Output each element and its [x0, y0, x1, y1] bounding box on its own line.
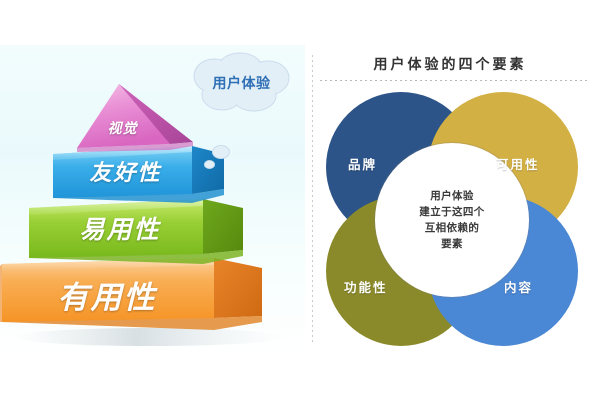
- venn-label-usability: 可用性: [496, 154, 540, 173]
- venn-label-function: 功能性: [344, 277, 388, 296]
- panel-divider: [312, 55, 313, 343]
- venn-label-content: 内容: [504, 277, 533, 296]
- venn-center-text: 用户体验 建立于这四个 互相依赖的 要素: [419, 188, 484, 252]
- venn-label-brand: 品牌: [348, 154, 377, 173]
- venn-panel: 用户体验的四个要素 用户体验 建立于这四个 互相依赖的 要素 品牌 可用性 功能…: [320, 40, 600, 370]
- venn-title: 用户体验的四个要素: [320, 54, 580, 74]
- venn-center-line-3: 互相依赖的: [419, 220, 484, 236]
- diagram-canvas: 有用性: [0, 0, 600, 400]
- venn-center-line-1: 用户体验: [419, 188, 484, 204]
- venn-center-line-4: 要素: [419, 236, 484, 252]
- venn-title-rule: [320, 80, 588, 81]
- thought-bubble: 用户体验: [190, 52, 293, 114]
- venn-diagram: 用户体验 建立于这四个 互相依赖的 要素 品牌 可用性 功能性 内容: [326, 92, 578, 354]
- thought-bubble-dot-large: [212, 145, 230, 159]
- venn-center-line-2: 建立于这四个: [419, 204, 484, 220]
- thought-bubble-label: 用户体验: [190, 73, 293, 93]
- thought-bubble-dot-small: [204, 160, 215, 169]
